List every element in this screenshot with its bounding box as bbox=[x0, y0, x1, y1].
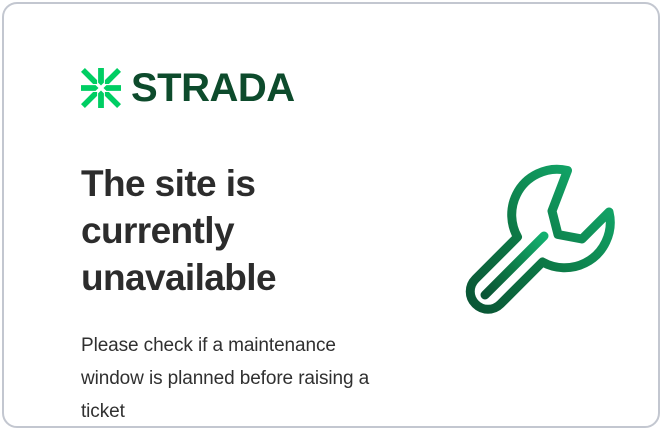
maintenance-illustration bbox=[459, 156, 624, 316]
strada-asterisk-icon bbox=[81, 68, 121, 108]
status-description: Please check if a maintenance window is … bbox=[81, 329, 381, 428]
page-title: The site is currently unavailable bbox=[81, 160, 411, 301]
status-card: STRADA The site is currently unavailable… bbox=[2, 2, 660, 428]
brand-wordmark: STRADA bbox=[131, 68, 295, 108]
brand-lockup: STRADA bbox=[81, 66, 431, 110]
content-column: STRADA The site is currently unavailable… bbox=[81, 66, 431, 428]
wrench-icon bbox=[459, 156, 624, 316]
